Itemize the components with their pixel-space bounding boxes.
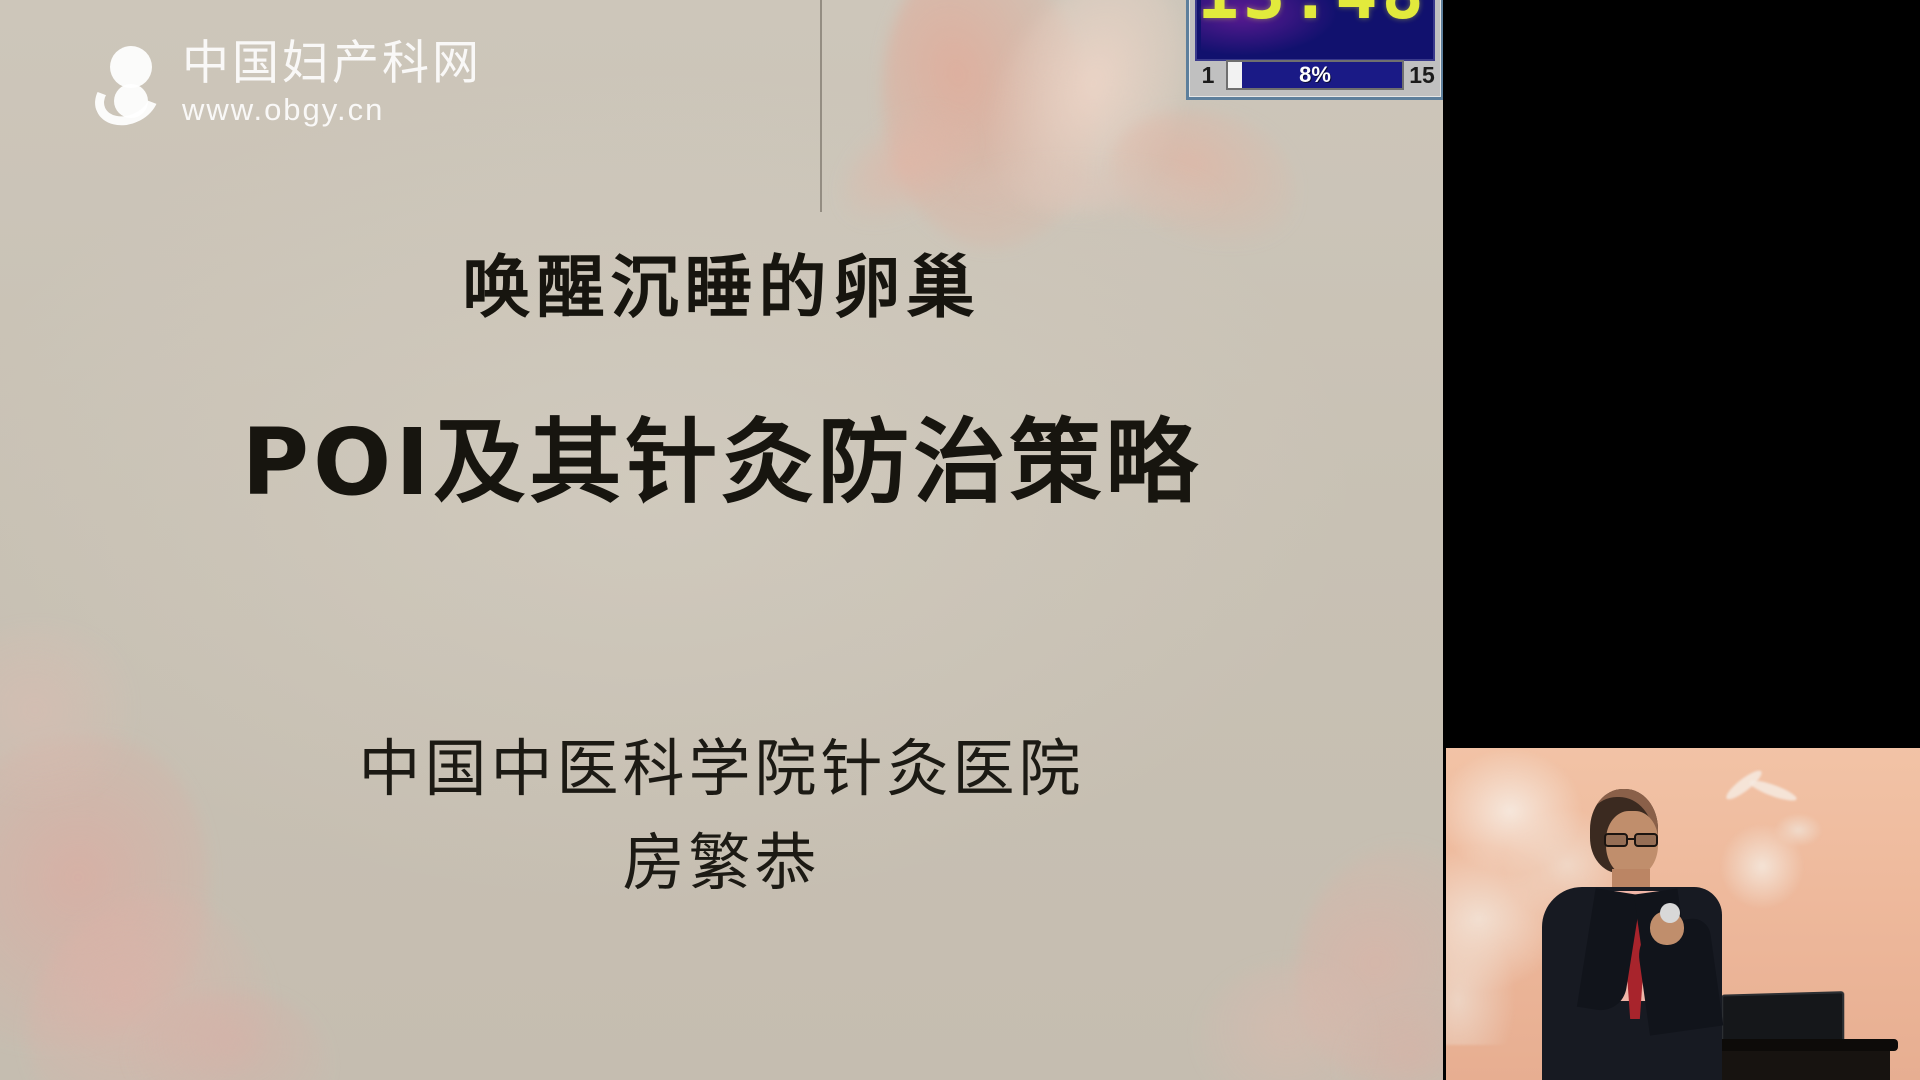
presentation-slide: 中国妇产科网 www.obgy.cn 唤醒沉睡的卵巢 POI及其针灸防治策略 中… — [0, 0, 1443, 1080]
speaker-camera-feed[interactable] — [1446, 745, 1920, 1080]
slide-affiliation: 中国中医科学院针灸医院 — [0, 718, 1443, 808]
video-letterbox-bar — [1446, 745, 1920, 748]
progress-bar-fill — [1228, 62, 1242, 88]
slide-progress-row: 1 8% 15 — [1195, 58, 1435, 92]
slide-main-title: POI及其针灸防治策略 — [0, 388, 1443, 521]
slide-text-block: 唤醒沉睡的卵巢 POI及其针灸防治策略 中国中医科学院针灸医院 房繁恭 — [0, 0, 1443, 1080]
total-slide-number: 15 — [1409, 62, 1435, 89]
timer-lcd-display: 13:48 — [1195, 0, 1435, 61]
progress-percent-label: 8% — [1299, 62, 1331, 88]
slide-presenter-name: 房繁恭 — [0, 812, 1443, 902]
slide-subtitle: 唤醒沉睡的卵巢 — [0, 232, 1443, 331]
current-slide-number: 1 — [1195, 62, 1221, 89]
timer-clock-readout: 13:48 — [1197, 0, 1425, 35]
slide-progress-bar[interactable]: 8% — [1226, 60, 1404, 90]
glasses-icon — [1604, 833, 1664, 847]
microphone-icon — [1660, 903, 1680, 923]
screen-root: 中国妇产科网 www.obgy.cn 唤醒沉睡的卵巢 POI及其针灸防治策略 中… — [0, 0, 1920, 1080]
presentation-timer-widget[interactable]: 13:48 1 8% 15 — [1186, 0, 1444, 100]
